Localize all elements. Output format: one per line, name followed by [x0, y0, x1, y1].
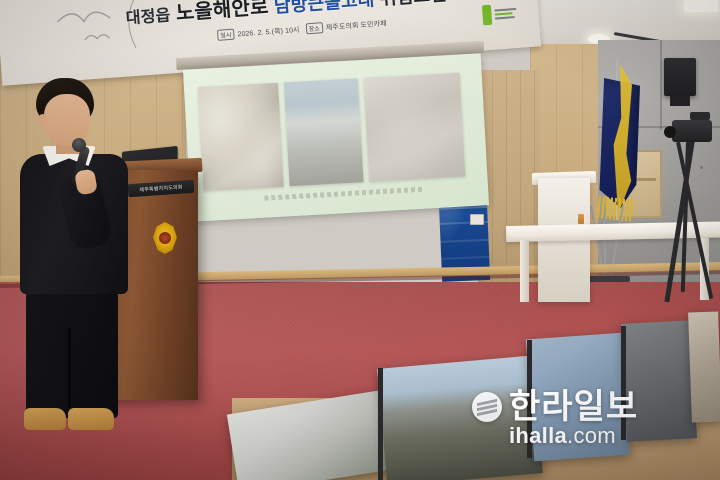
- banner-date-value: 2026. 2. 5.(목) 10시: [237, 27, 300, 39]
- watermark-domain: .com: [567, 423, 616, 448]
- presenter-shoe: [68, 408, 114, 430]
- banner-place-value: 제주도의회 도민카페: [326, 20, 387, 31]
- halla-globe-icon: [472, 392, 502, 422]
- video-camera: [672, 120, 712, 142]
- wall-power-socket[interactable]: [470, 214, 484, 225]
- presenter-face: [44, 94, 90, 146]
- watermark-english: ihalla.com: [509, 424, 616, 448]
- camera-lens-icon: [664, 126, 676, 138]
- banner-title-road: 노을해안로: [175, 0, 269, 25]
- banner-organization-logo: [482, 0, 524, 28]
- concrete-seam: [660, 40, 662, 130]
- banner-title-prefix: 대정읍: [125, 7, 171, 27]
- banner-date-label: 일시: [217, 29, 235, 41]
- watermark-english-text: ihalla: [509, 423, 567, 448]
- paper-cup: [578, 214, 584, 224]
- presenter-ear: [38, 114, 47, 127]
- photo-canvas: 대정읍 노을해안로 남방큰돌고래 위험요인 조사 결과 발표회 일시2026. …: [0, 0, 720, 480]
- photo-panel-edge: [378, 368, 383, 480]
- logo-wordmark: [494, 8, 517, 20]
- projection-screen: [183, 53, 489, 221]
- wall-loudspeaker: [664, 58, 696, 96]
- slide-caption: [264, 187, 424, 201]
- presenter-shoe: [24, 408, 66, 430]
- mural-wave: [441, 256, 489, 260]
- watermark: 한라일보 ihalla.com: [472, 390, 702, 456]
- loudspeaker-mount: [670, 96, 690, 106]
- banner-title-highlight: 남방큰돌고래: [273, 0, 375, 17]
- logo-mark: [482, 5, 492, 26]
- banner-place-label: 장소: [305, 22, 323, 34]
- table-leg: [520, 240, 529, 302]
- presenter-leg-split: [68, 328, 71, 416]
- camera-viewfinder: [690, 112, 710, 120]
- presenter: [6, 78, 130, 428]
- slide-photo-rocky-shore-left: [198, 83, 284, 191]
- concrete-tie-hole: [700, 166, 703, 169]
- slide-photo-rocky-shore-right: [364, 73, 466, 182]
- mural-wave: [440, 239, 488, 243]
- watermark-korean: 한라일보: [509, 390, 638, 424]
- slide-photo-tidepool-center: [284, 78, 364, 186]
- ceiling-light: [684, 0, 718, 12]
- podium-nameplate-text: 제주특별자치도의회: [139, 184, 183, 194]
- flag-fringe: [597, 196, 635, 222]
- banner-title-topic: 위험요인: [379, 0, 447, 9]
- presenter-legs: [26, 290, 118, 418]
